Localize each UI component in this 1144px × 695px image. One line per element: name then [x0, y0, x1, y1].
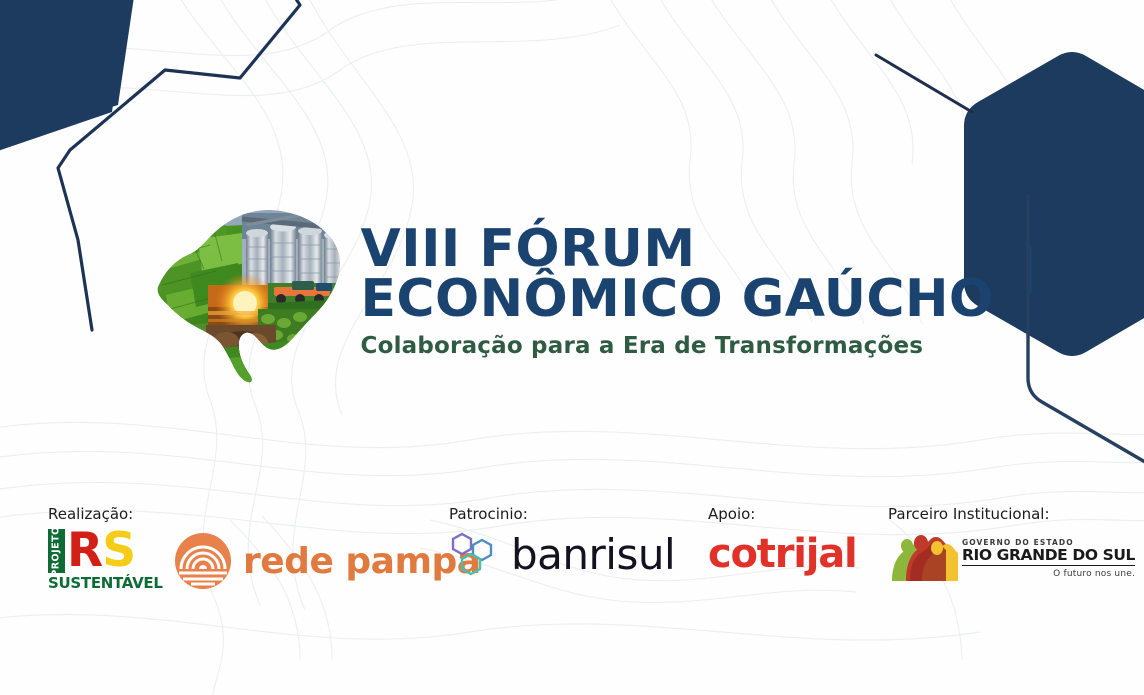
hexagon-navy-solid-top-left-2 [0, 0, 126, 168]
banrisul-logo[interactable]: banrisul [449, 529, 675, 579]
gov-tagline: O futuro nos une. [962, 569, 1135, 579]
hexagon-navy-solid-top-left [0, 0, 135, 160]
title-line-2: ECONÔMICO GAÚCHO [360, 272, 993, 326]
gov-line-2: RIO GRANDE DO SUL [962, 547, 1135, 563]
rede-pampa-sun-icon [175, 533, 231, 589]
sponsor-group-realizacao: Realização: PROJETO R S SUSTENTÁVEL [48, 505, 144, 592]
rs-letter-r: R [67, 529, 102, 573]
sponsor-group-rede-pampa: rede pampa [175, 533, 481, 589]
poster-canvas: VIII FÓRUM ECONÔMICO GAÚCHO Colaboração … [0, 0, 1144, 695]
sponsor-label-parceiro: Parceiro Institucional: [888, 505, 1135, 523]
sponsor-label-apoio: Apoio: [708, 505, 857, 523]
rs-projeto-text: PROJETO [51, 526, 62, 576]
rede-pampa-wordmark: rede pampa [243, 541, 481, 582]
rs-sustentavel-text: SUSTENTÁVEL [48, 574, 144, 592]
title-line-1: VIII FÓRUM [360, 223, 993, 276]
rs-letter-s: S [102, 529, 135, 573]
gov-divider [962, 565, 1135, 567]
sponsor-group-patrocinio: Patrocinio: banrisul [449, 505, 675, 579]
event-subtitle: Colaboração para a Era de Transformações [360, 333, 993, 359]
cotrijal-logo[interactable]: cotrijal [708, 531, 857, 577]
cotrijal-wordmark: cotrijal [708, 531, 857, 577]
sponsors-bar: Realização: PROJETO R S SUSTENTÁVEL [0, 505, 1144, 625]
sponsor-label-realizacao: Realização: [48, 505, 144, 523]
rs-projeto-vertical-bar: PROJETO [48, 529, 65, 573]
hexagon-navy-outline-top-right [876, 55, 972, 112]
hero-section: VIII FÓRUM ECONÔMICO GAÚCHO Colaboração … [0, 186, 1144, 396]
banrisul-wordmark: banrisul [511, 530, 675, 579]
projeto-rs-sustentavel-logo[interactable]: PROJETO R S SUSTENTÁVEL [48, 529, 144, 592]
event-title-block: VIII FÓRUM ECONÔMICO GAÚCHO Colaboração … [360, 223, 993, 359]
gov-rs-faces-icon [888, 529, 958, 581]
sponsor-group-apoio: Apoio: cotrijal [708, 505, 857, 577]
sponsor-label-patrocinio: Patrocinio: [449, 505, 675, 523]
banrisul-hexagons-icon [449, 529, 499, 579]
sponsor-group-parceiro-institucional: Parceiro Institucional: GOVERNO DO ESTAD… [888, 505, 1135, 581]
rio-grande-do-sul-map-collage [150, 199, 350, 384]
governo-rio-grande-do-sul-logo[interactable]: GOVERNO DO ESTADO RIO GRANDE DO SUL O fu… [888, 529, 1135, 581]
rede-pampa-logo[interactable]: rede pampa [175, 533, 481, 589]
